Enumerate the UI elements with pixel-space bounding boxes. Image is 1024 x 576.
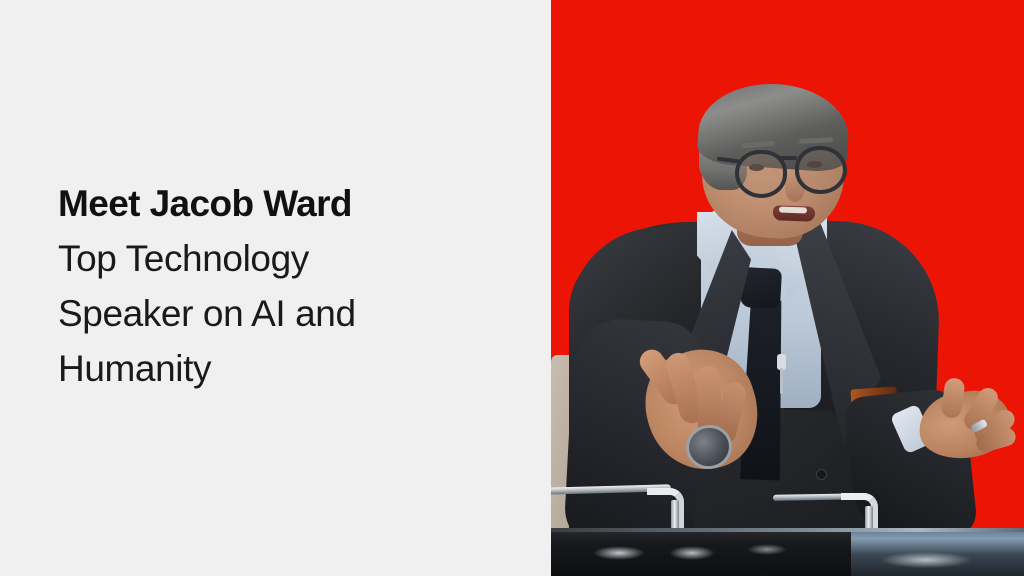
text-block: Meet Jacob Ward Top Technology Speaker o… <box>58 176 478 396</box>
desk-edge <box>551 528 1024 532</box>
slide-canvas: Meet Jacob Ward Top Technology Speaker o… <box>0 0 1024 576</box>
eyeglasses-lens-right <box>795 146 847 194</box>
subtitle-line-1: Top Technology <box>58 231 478 286</box>
desk-highlight-1 <box>593 546 645 560</box>
desk-highlight-3 <box>747 544 787 555</box>
eyeglasses-bridge <box>778 156 797 160</box>
desk-highlight-4 <box>881 552 971 568</box>
subtitle-line-3: Humanity <box>58 341 478 396</box>
desk-highlight-2 <box>669 546 715 560</box>
text-panel: Meet Jacob Ward Top Technology Speaker o… <box>0 0 551 576</box>
microphone-cord <box>780 368 783 394</box>
subtitle-line-2: Speaker on AI and <box>58 286 478 341</box>
jacket-button <box>817 470 826 479</box>
teeth <box>779 207 807 214</box>
speaker-photo <box>551 0 1024 576</box>
page-title: Meet Jacob Ward <box>58 176 478 231</box>
